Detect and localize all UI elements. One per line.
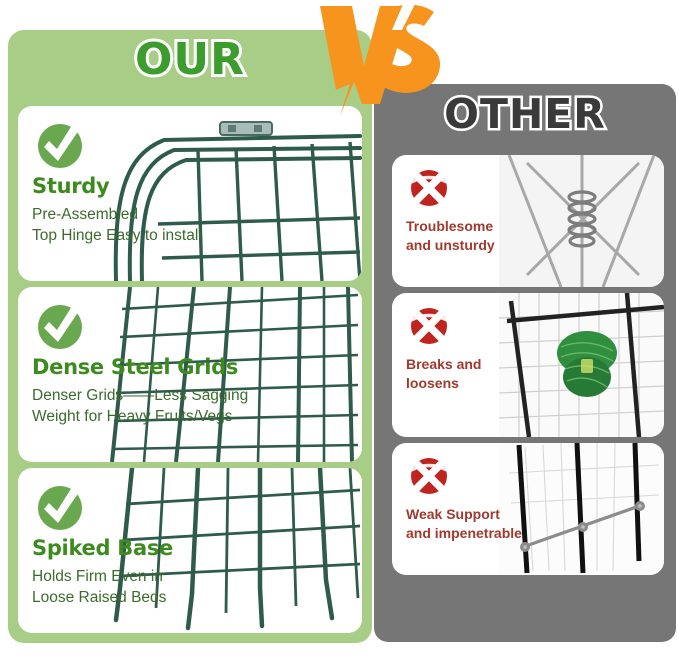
other-card-1-line-1: Troublesome bbox=[406, 217, 495, 236]
other-card-2-text: Breaks and loosens bbox=[406, 303, 481, 393]
our-card-2-text: Dense Steel Grids Denser Grids——Less Sag… bbox=[32, 297, 248, 427]
x-icon bbox=[406, 165, 452, 211]
other-card-3-text: Weak Support and impenetrable bbox=[406, 453, 522, 543]
our-card-3: Spiked Base Holds Firm Even in Loose Rai… bbox=[18, 468, 362, 633]
other-card-3-line-1: Weak Support bbox=[406, 505, 522, 524]
our-card-3-line-2: Loose Raised Beds bbox=[32, 587, 173, 608]
other-card-3-line-2: and impenetrable bbox=[406, 524, 522, 543]
our-card-1-text: Sturdy Pre-Assembled Top Hinge Easy to i… bbox=[32, 116, 202, 246]
other-card-2-line-2: loosens bbox=[406, 374, 481, 393]
other-card-2-line-1: Breaks and bbox=[406, 355, 481, 374]
our-card-1-line-1: Pre-Assembled bbox=[32, 204, 202, 225]
our-card-2-line-1: Denser Grids——Less Sagging bbox=[32, 385, 248, 406]
versus-badge bbox=[306, 0, 446, 135]
our-card-1-line-2: Top Hinge Easy to install bbox=[32, 225, 202, 246]
other-panel: OTHER bbox=[374, 84, 676, 642]
versus-lightning-icon bbox=[306, 0, 446, 135]
our-card-2: Dense Steel Grids Denser Grids——Less Sag… bbox=[18, 287, 362, 462]
our-card-3-text: Spiked Base Holds Firm Even in Loose Rai… bbox=[32, 478, 173, 608]
our-card-3-title: Spiked Base bbox=[32, 536, 173, 560]
our-card-3-line-1: Holds Firm Even in bbox=[32, 566, 173, 587]
our-card-2-title: Dense Steel Grids bbox=[32, 355, 248, 379]
check-icon bbox=[32, 116, 88, 172]
other-card-3-image bbox=[499, 443, 664, 575]
x-icon bbox=[406, 303, 452, 349]
other-card-2-image bbox=[499, 293, 664, 437]
other-card-1: Troublesome and unsturdy bbox=[392, 155, 664, 287]
our-card-1-title: Sturdy bbox=[32, 174, 202, 198]
our-card-2-line-2: Weight for Heavy Fruits/Vegs bbox=[32, 406, 248, 427]
x-icon bbox=[406, 453, 452, 499]
other-card-1-image bbox=[499, 155, 664, 287]
other-card-1-text: Troublesome and unsturdy bbox=[406, 165, 495, 255]
comparison-infographic: OTHER bbox=[0, 0, 679, 661]
check-icon bbox=[32, 297, 88, 353]
check-icon bbox=[32, 478, 88, 534]
other-card-1-line-2: and unsturdy bbox=[406, 236, 495, 255]
other-card-2: Breaks and loosens bbox=[392, 293, 664, 437]
other-card-3: Weak Support and impenetrable bbox=[392, 443, 664, 575]
